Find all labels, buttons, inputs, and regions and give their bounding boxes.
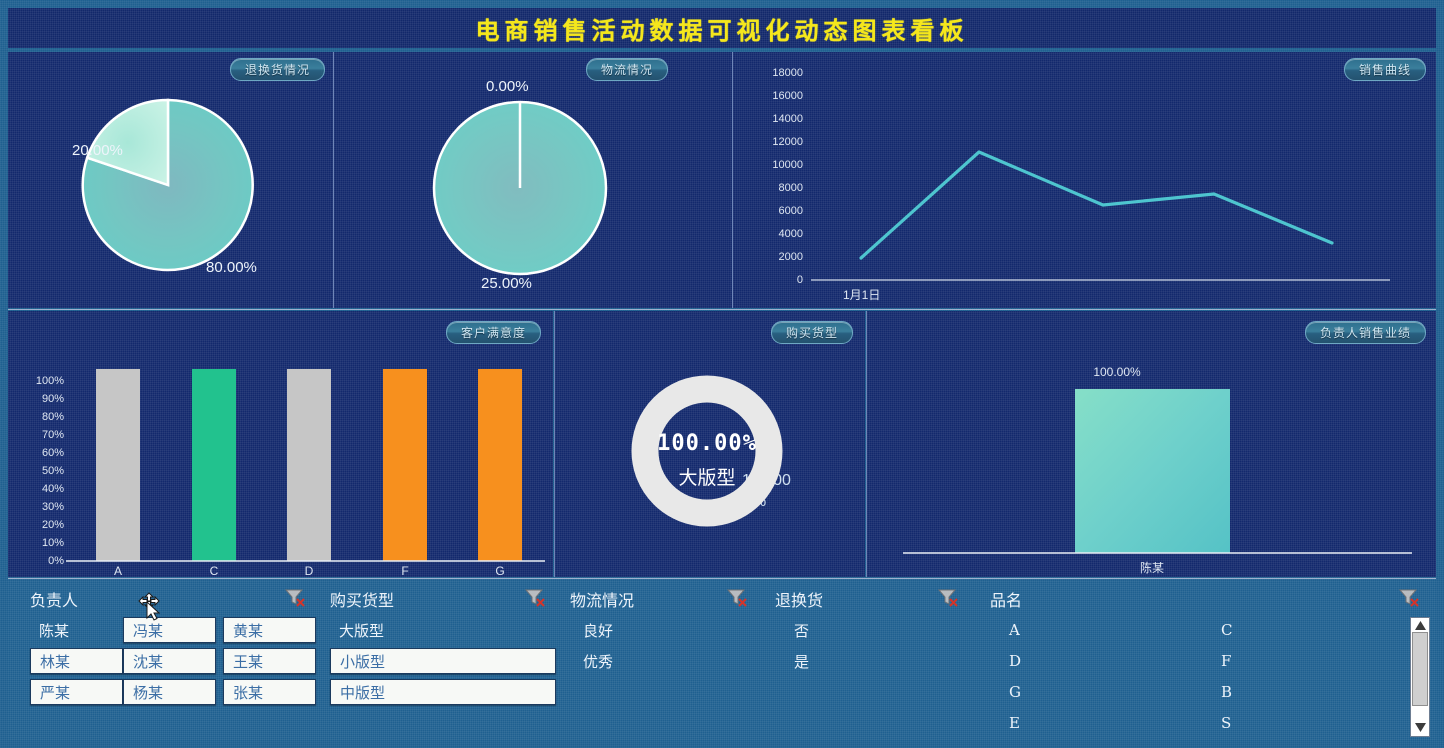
bar-x-g: G [478, 564, 522, 577]
funnel-clear-icon-returns[interactable] [937, 587, 959, 607]
scroll-down-arrow-icon[interactable] [1415, 723, 1426, 732]
scroll-up-arrow-icon[interactable] [1415, 621, 1426, 630]
slicer-scrollbar-thumb[interactable] [1412, 632, 1428, 706]
panel-logistics: 物流情况 0.00% 25.00% [334, 52, 732, 308]
dashboard-title-bar: 电商销售活动数据可视化动态图表看板 [8, 8, 1436, 48]
divider-v3 [554, 311, 555, 577]
slicer-purchase-type-item-1[interactable]: 小版型 [330, 648, 556, 674]
slicer-product-name-item-1[interactable]: C [1212, 617, 1302, 643]
slicer-returns-item-0[interactable]: 否 [785, 617, 875, 643]
slicer-product-name-item-2[interactable]: D [1000, 648, 1090, 674]
slicer-owner: 负责人 陈某 冯某 黄某 林某 沈某 王某 严某 杨某 张某 [16, 579, 316, 741]
slicer-scrollbar[interactable] [1410, 617, 1430, 737]
slicer-owner-item-0[interactable]: 陈某 [30, 617, 115, 643]
slicer-product-name-item-4[interactable]: G [1000, 679, 1090, 705]
slicer-product-name-item-5[interactable]: B [1212, 679, 1302, 705]
slicer-logistics: 物流情况 良好 优秀 [556, 579, 761, 741]
returns-label-large: 80.00% [206, 259, 257, 276]
slicer-returns-title: 退换货 [775, 587, 823, 611]
slicer-returns: 退换货 否 是 [761, 579, 976, 741]
slicer-product-name-item-3[interactable]: F [1212, 648, 1302, 674]
panel-owner-performance: 负责人销售业绩 100.00% 陈某 [867, 311, 1436, 577]
slicer-owner-item-4[interactable]: 沈某 [123, 648, 216, 674]
slicer-logistics-item-1[interactable]: 优秀 [574, 648, 674, 674]
panel-returns: 退换货情况 20.00% 80.00% [8, 52, 333, 308]
logistics-label-zero: 0.00% [486, 78, 529, 95]
slicer-returns-item-1[interactable]: 是 [785, 648, 875, 674]
divider-h1 [8, 309, 1436, 310]
divider-v4 [866, 311, 867, 577]
slicer-owner-item-2[interactable]: 黄某 [223, 617, 316, 643]
slicer-logistics-item-0[interactable]: 良好 [574, 617, 674, 643]
sales-line-series [733, 52, 1436, 308]
slicer-purchase-type: 购买货型 大版型 小版型 中版型 [316, 579, 556, 741]
slicer-owner-item-7[interactable]: 杨某 [123, 679, 216, 705]
slicer-logistics-title: 物流情况 [570, 587, 634, 611]
slicer-product-name-item-7[interactable]: S [1212, 710, 1302, 736]
slicer-owner-item-1[interactable]: 冯某 [123, 617, 216, 643]
slicer-product-name-title: 品名 [990, 587, 1022, 611]
slicer-panel: 负责人 陈某 冯某 黄某 林某 沈某 王某 严某 杨某 张某 购买货型 大版型 … [8, 578, 1436, 740]
bar-x-c: C [192, 564, 236, 577]
panel-satisfaction: 客户满意度 100% 90% 80% 70% 60% 50% 40% 30% 2… [8, 311, 553, 577]
satisfaction-bars [8, 311, 553, 577]
divider-v1 [333, 52, 334, 308]
panel-purchase-type: 购买货型 100.00 % 100.00% 大版型 [555, 311, 865, 577]
owner-bar-category: 陈某 [1102, 559, 1202, 576]
slicer-owner-item-3[interactable]: 林某 [30, 648, 123, 674]
page-title: 电商销售活动数据可视化动态图表看板 [476, 11, 969, 46]
returns-label-small: 20.00% [72, 142, 123, 159]
donut-center-value: 100.00% [647, 431, 767, 456]
funnel-clear-icon-owner[interactable] [284, 587, 306, 607]
divider-v2 [732, 52, 733, 308]
dashboard-root: 电商销售活动数据可视化动态图表看板 退换货情况 20.00% 80.0 [0, 0, 1444, 748]
slicer-product-name-item-0[interactable]: A [1000, 617, 1090, 643]
bar-x-a: A [96, 564, 140, 577]
slicer-owner-item-6[interactable]: 严某 [30, 679, 123, 705]
funnel-clear-icon-purchase-type[interactable] [524, 587, 546, 607]
funnel-clear-icon-logistics[interactable] [726, 587, 748, 607]
funnel-clear-icon-product-name[interactable] [1398, 587, 1420, 607]
slicer-purchase-type-item-2[interactable]: 中版型 [330, 679, 556, 705]
donut-center-label: 大版型 [647, 463, 767, 490]
logistics-pie-chart [334, 52, 732, 308]
slicer-product-name-item-6[interactable]: E [1000, 710, 1090, 736]
x-tick-jan1: 1月1日 [843, 286, 880, 303]
slicer-owner-title: 负责人 [30, 587, 78, 611]
logistics-label-quarter: 25.00% [481, 275, 532, 292]
slicer-owner-item-5[interactable]: 王某 [223, 648, 316, 674]
bar-x-d: D [287, 564, 331, 577]
slicer-purchase-type-item-0[interactable]: 大版型 [330, 617, 542, 643]
returns-pie-chart [8, 52, 333, 308]
slicer-product-name: 品名 A C D F G B E S [976, 579, 1436, 741]
bar-x-f: F [383, 564, 427, 577]
panel-sales-curve: 销售曲线 18000 16000 14000 12000 10000 8000 … [733, 52, 1436, 308]
slicer-owner-item-8[interactable]: 张某 [223, 679, 316, 705]
slicer-purchase-type-title: 购买货型 [330, 587, 394, 611]
owner-performance-bar [867, 311, 1436, 577]
